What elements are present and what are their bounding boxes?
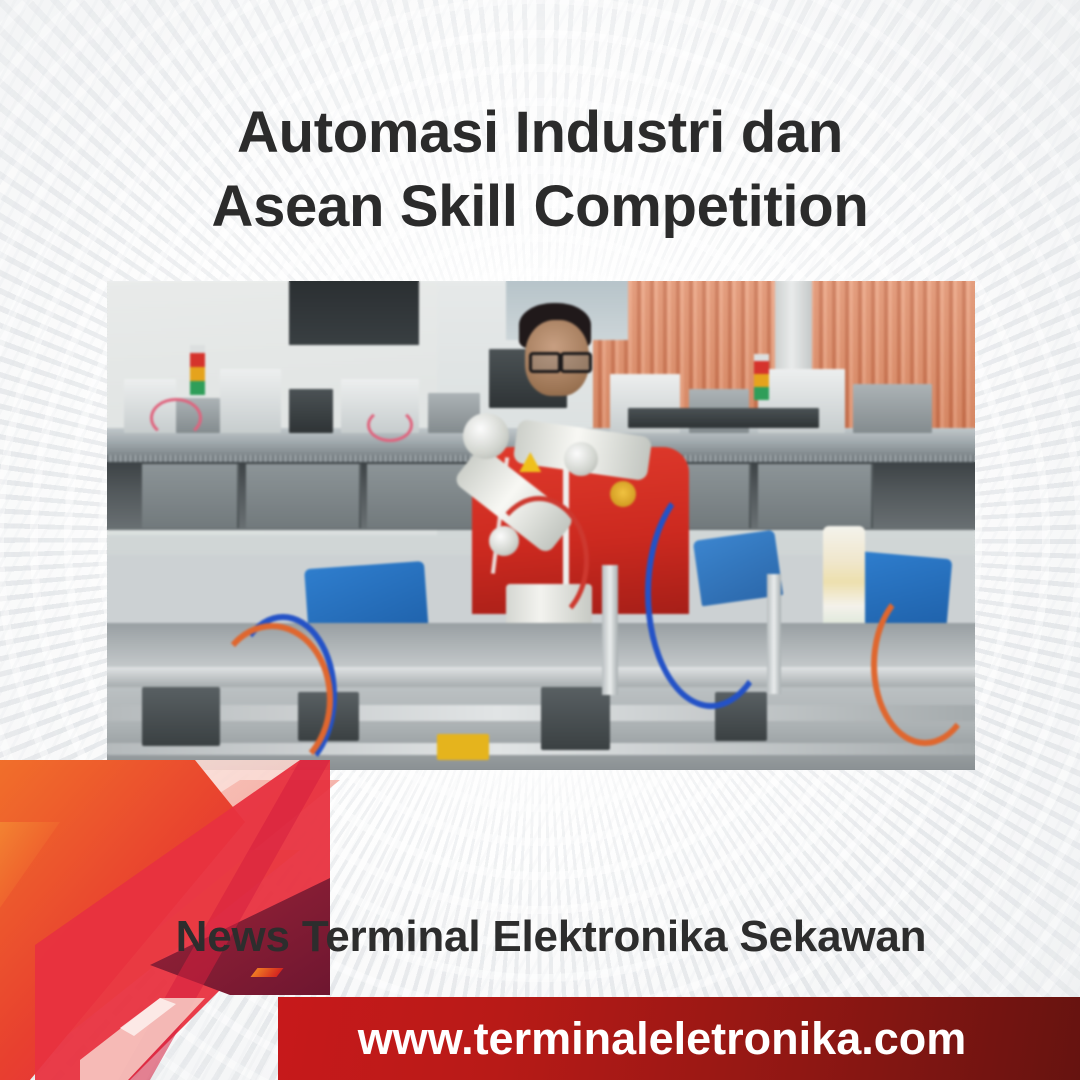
page-title: Automasi Industri dan Asean Skill Compet… — [0, 96, 1080, 244]
article-photo — [107, 281, 975, 770]
footer-headline: News Terminal Elektronika Sekawan — [0, 912, 1080, 962]
photo-softness-overlay — [107, 281, 975, 770]
title-line-1: Automasi Industri dan — [0, 96, 1080, 170]
title-line-2: Asean Skill Competition — [0, 170, 1080, 244]
website-url-text: www.terminaleletronika.com — [358, 1013, 1001, 1065]
website-url-bar[interactable]: www.terminaleletronika.com — [278, 997, 1080, 1080]
poster-canvas: Automasi Industri dan Asean Skill Compet… — [0, 0, 1080, 1080]
footer-headline-text: News Terminal Elektronika Sekawan — [176, 912, 927, 961]
